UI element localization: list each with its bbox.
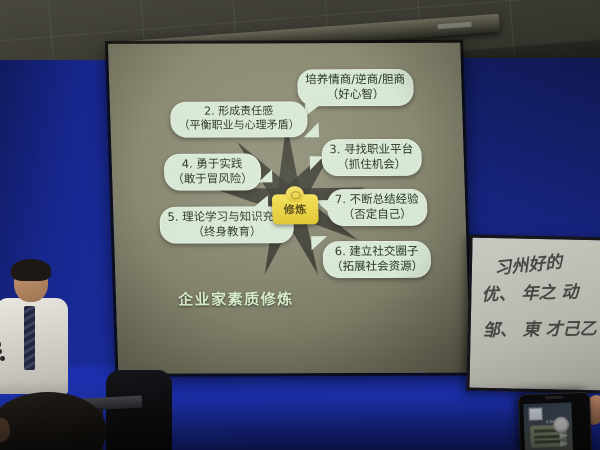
mindmap-bubble-4[interactable]: 4. 勇于实践 （敢于冒风险） xyxy=(163,153,261,190)
bubble-4-line1: 4. 勇于实践 xyxy=(172,157,253,171)
audience-ear xyxy=(0,418,10,442)
bubble-5-line1: 5. 理论学习与知识充电 xyxy=(167,210,286,224)
smartphone[interactable]: 0:00 xyxy=(518,392,592,450)
lecture-hall-scene: 培养情商/逆商/胆商 （好心智） 2. 形成责任感 （平衡职业与心理矛盾） 3.… xyxy=(0,0,600,450)
shutter-button[interactable] xyxy=(553,417,570,434)
bubble-1-line1: 培养情商/逆商/胆商 xyxy=(305,73,405,87)
roller-brand-label xyxy=(437,22,471,29)
mindmap-bubble-1[interactable]: 培养情商/逆商/胆商 （好心智） xyxy=(297,69,414,107)
projector-screen: 培养情商/逆商/胆商 （好心智） 2. 形成责任感 （平衡职业与心理矛盾） 3.… xyxy=(108,43,471,374)
phone-earpiece xyxy=(545,396,563,400)
presenter-necktie xyxy=(24,306,35,370)
bubble-3-line2: （抓住机会） xyxy=(330,157,414,171)
bubble-1-line2: （好心智） xyxy=(305,88,405,102)
whiteboard: 习州好的 优、 年之 动 邹、 東 才己乙 xyxy=(466,235,600,394)
center-node-label: 修炼 xyxy=(272,201,319,217)
chair-back xyxy=(106,370,172,450)
badge-knob-icon xyxy=(286,186,305,202)
presenter xyxy=(0,262,70,392)
mindmap-bubble-3[interactable]: 3. 寻找职业平台 （抓住机会） xyxy=(321,139,422,176)
bubble-2-line1: 2. 形成责任感 xyxy=(178,105,299,118)
mindmap-center-node[interactable]: 修炼 xyxy=(272,186,319,224)
bubble-2-line2: （平衡职业与心理矛盾） xyxy=(178,119,299,132)
phone-camera-viewfinder[interactable]: 0:00 xyxy=(523,402,573,450)
mindmap-bubble-7[interactable]: 7. 不断总结经验 （否定自己） xyxy=(327,189,428,226)
bubble-4-line2: （敢于冒风险） xyxy=(172,172,253,186)
bubble-5-line2: （终身教育） xyxy=(168,225,287,239)
whiteboard-scrawl-2: 优、 年之 动 xyxy=(481,277,579,305)
bubble-7-line2: （否定自己） xyxy=(335,207,419,221)
slide-title: 企业家素质修炼 xyxy=(178,288,294,309)
bubble-7-line1: 7. 不断总结经验 xyxy=(335,193,419,207)
presenter-hair xyxy=(11,259,51,281)
bubble-6-line1: 6. 建立社交圈子 xyxy=(330,245,422,259)
whiteboard-scrawl-3: 邹、 東 才己乙 xyxy=(483,314,597,341)
mindmap-bubble-2[interactable]: 2. 形成责任感 （平衡职业与心理矛盾） xyxy=(170,101,308,137)
last-photo-thumbnail[interactable] xyxy=(528,407,542,420)
bubble-6-line2: （拓展社会资源） xyxy=(331,259,423,273)
bubble-3-line1: 3. 寻找职业平台 xyxy=(329,143,413,157)
mindmap-bubble-6[interactable]: 6. 建立社交圈子 （拓展社会资源） xyxy=(322,241,431,278)
whiteboard-scrawl-1: 习州好的 xyxy=(493,247,563,279)
